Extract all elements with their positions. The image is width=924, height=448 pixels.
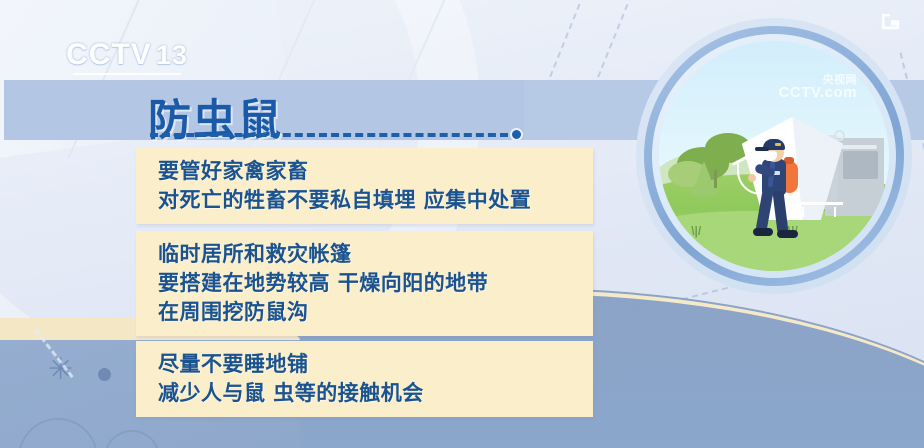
cap-badge bbox=[775, 143, 781, 146]
tree-trunk bbox=[714, 170, 717, 188]
title-end-dot bbox=[510, 128, 523, 141]
tip-card-1: 要管好家禽家畜 对死亡的牲畜不要私自填埋 应集中处置 bbox=[136, 148, 593, 224]
worker-shoe-back bbox=[753, 228, 773, 236]
illustration-circle: \|/ \|/ bbox=[636, 18, 912, 294]
grass-tuft-icon: \|/ bbox=[691, 225, 701, 237]
page-title: 防虫鼠 bbox=[148, 86, 283, 148]
tip-line: 临时居所和救灾帐篷 bbox=[158, 240, 593, 269]
tent-side-bar bbox=[838, 145, 877, 149]
worker-cap-brim bbox=[755, 147, 769, 151]
disinfection-worker bbox=[751, 133, 811, 243]
tent-side-panel bbox=[843, 151, 878, 179]
face-mask-icon bbox=[763, 151, 777, 161]
tip-line: 对死亡的牲畜不要私自填埋 应集中处置 bbox=[158, 186, 593, 215]
tip-line: 要管好家禽家畜 bbox=[158, 157, 593, 186]
tip-line: 要搭建在地势较高 干燥向阳的地带 bbox=[158, 269, 593, 298]
cctv-logo-underline bbox=[73, 73, 181, 75]
illustration-scene: \|/ \|/ bbox=[659, 41, 889, 271]
tip-card-3: 尽量不要睡地铺 减少人与鼠 虫等的接触机会 bbox=[136, 341, 593, 417]
tent-roll-knob bbox=[834, 130, 845, 141]
broadcast-graphic-frame: ✳ CCTV13 新 闻 央视网 CCTV.com 防虫鼠 要管好家禽家畜 对死… bbox=[0, 0, 924, 448]
bench-leg bbox=[834, 207, 836, 217]
scene-watermark-english: CCTV.com bbox=[779, 84, 857, 101]
scene-watermark: 央视网 CCTV.com bbox=[779, 71, 857, 101]
cctv-logo-wordmark: CCTV13 bbox=[52, 38, 202, 72]
tip-line: 减少人与鼠 虫等的接触机会 bbox=[158, 379, 593, 408]
dot-decoration bbox=[98, 368, 111, 381]
worker-leg-front bbox=[772, 190, 788, 233]
cctv-logo-number: 13 bbox=[156, 40, 188, 70]
worker-hand bbox=[748, 174, 756, 182]
tip-line: 在周围挖防鼠沟 bbox=[158, 298, 593, 327]
tip-card-2: 临时居所和救灾帐篷 要搭建在地势较高 干燥向阳的地带 在周围挖防鼠沟 bbox=[136, 231, 593, 336]
title-dashed-rule bbox=[150, 133, 508, 137]
worker-leg-back bbox=[756, 190, 774, 231]
worker-shoe-front bbox=[777, 230, 798, 238]
cctv-logo-text: CCTV bbox=[66, 38, 152, 71]
tip-line: 尽量不要睡地铺 bbox=[158, 350, 593, 379]
